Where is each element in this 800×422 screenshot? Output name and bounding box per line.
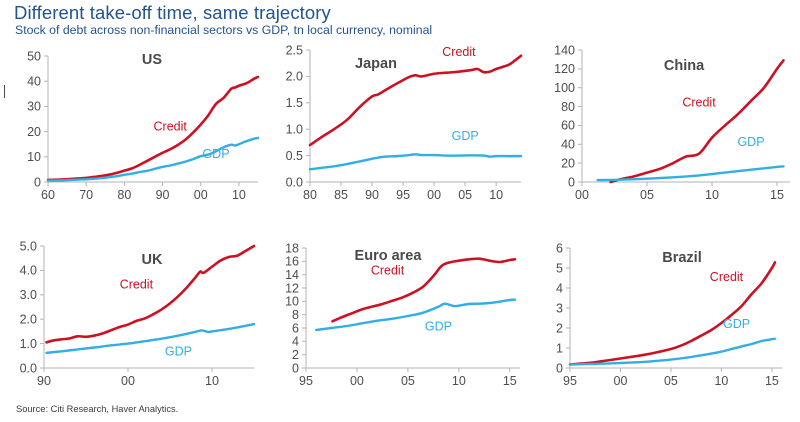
series-label-credit: Credit [371, 264, 405, 278]
xtick-label: 10 [205, 374, 219, 388]
ytick-label: 18 [285, 241, 299, 255]
ytick-label: 2.0 [20, 313, 37, 327]
xtick-label: 80 [117, 188, 131, 202]
series-line-gdp [47, 324, 254, 353]
ytick-label: 6 [556, 241, 563, 255]
series-label-credit: Credit [120, 278, 154, 292]
ytick-label: 40 [27, 75, 41, 89]
ytick-label: 5 [556, 261, 563, 275]
xtick-label: 00 [194, 188, 208, 202]
figure-title: Different take-off time, same trajectory [14, 2, 331, 24]
series-line-credit [310, 56, 521, 145]
xtick-label: 00 [575, 188, 589, 202]
series-label-gdp: GDP [425, 320, 452, 334]
series-label-gdp: GDP [165, 344, 192, 358]
xtick-label: 05 [458, 188, 472, 202]
series-label-credit: Credit [154, 119, 188, 133]
ytick-label: 30 [27, 100, 41, 114]
chart-brazil: 01234569500051015CreditGDPBrazil [532, 220, 798, 402]
series-label-credit: Credit [710, 270, 744, 284]
xtick-label: 95 [396, 188, 410, 202]
xtick-label: 60 [41, 188, 55, 202]
ytick-label: 16 [285, 255, 299, 269]
panel-uk: 0.01.02.03.04.05.0900010CreditGDPUK [0, 220, 266, 402]
ytick-label: 40 [561, 138, 575, 152]
figure-canvas: Different take-off time, same trajectory… [0, 0, 800, 422]
panel-brazil: 01234569500051015CreditGDPBrazil [532, 220, 798, 402]
ytick-label: 20 [27, 125, 41, 139]
ytick-label: 2 [556, 321, 563, 335]
ytick-label: 8 [292, 308, 299, 322]
xtick-label: 95 [299, 374, 313, 388]
xtick-label: 90 [156, 188, 170, 202]
xtick-label: 15 [765, 374, 779, 388]
panel-title: China [664, 58, 705, 74]
ytick-label: 10 [27, 150, 41, 164]
ytick-label: 0 [568, 175, 575, 189]
ytick-label: 100 [554, 81, 575, 95]
panel-japan: 0.00.51.01.52.02.580859095000510CreditGD… [266, 38, 532, 220]
ytick-label: 4 [292, 335, 299, 349]
chart-euro-area: 0246810121416189500051015CreditGDPEuro a… [266, 220, 532, 402]
xtick-label: 00 [427, 188, 441, 202]
ytick-label: 1.0 [20, 337, 37, 351]
ytick-label: 50 [27, 49, 41, 63]
xtick-label: 95 [563, 374, 577, 388]
xtick-label: 00 [350, 374, 364, 388]
panel-title: US [142, 52, 162, 68]
series-label-gdp: GDP [737, 135, 764, 149]
ytick-label: 1.5 [286, 96, 303, 110]
xtick-label: 05 [640, 188, 654, 202]
chart-china: 02040608010012014000051015CreditGDPChina [532, 38, 798, 220]
ytick-label: 1.0 [286, 123, 303, 137]
xtick-label: 05 [664, 374, 678, 388]
source-note: Source: Citi Research, Haver Analytics. [16, 404, 178, 414]
ytick-label: 4 [556, 281, 563, 295]
panel-euro-area: 0246810121416189500051015CreditGDPEuro a… [266, 220, 532, 402]
ytick-label: 20 [561, 156, 575, 170]
chart-uk: 0.01.02.03.04.05.0900010CreditGDPUK [0, 220, 266, 402]
ytick-label: 2.0 [286, 70, 303, 84]
series-label-gdp: GDP [723, 317, 750, 331]
xtick-label: 80 [303, 188, 317, 202]
ytick-label: 2 [292, 348, 299, 362]
xtick-label: 10 [714, 374, 728, 388]
ytick-label: 6 [292, 321, 299, 335]
ytick-label: 1 [556, 341, 563, 355]
series-line-credit [611, 60, 784, 182]
ytick-label: 5.0 [20, 239, 37, 253]
ytick-label: 14 [285, 268, 299, 282]
figure-subtitle: Stock of debt across non-financial secto… [15, 23, 432, 37]
ytick-label: 80 [561, 100, 575, 114]
xtick-label: 10 [705, 188, 719, 202]
series-line-credit [570, 262, 775, 364]
panel-title: Euro area [355, 248, 423, 264]
panel-title: Brazil [662, 250, 702, 266]
ytick-label: 0.5 [286, 149, 303, 163]
ytick-label: 120 [554, 62, 575, 76]
ytick-label: 0.0 [286, 175, 303, 189]
xtick-label: 10 [232, 188, 246, 202]
ytick-label: 0 [34, 175, 41, 189]
series-label-gdp: GDP [202, 147, 229, 161]
xtick-label: 15 [503, 374, 517, 388]
xtick-label: 10 [489, 188, 503, 202]
ytick-label: 4.0 [20, 264, 37, 278]
xtick-label: 00 [614, 374, 628, 388]
ytick-label: 60 [561, 119, 575, 133]
xtick-label: 15 [770, 188, 784, 202]
panel-title: Japan [355, 56, 397, 72]
chart-japan: 0.00.51.01.52.02.580859095000510CreditGD… [266, 38, 532, 220]
panel-us: 01020304050607080900010CreditGDPUS [0, 38, 266, 220]
series-line-gdp [310, 154, 521, 169]
xtick-label: 70 [79, 188, 93, 202]
ytick-label: 0 [556, 361, 563, 375]
panel-grid: 01020304050607080900010CreditGDPUS 0.00.… [0, 38, 800, 402]
xtick-label: 90 [365, 188, 379, 202]
panel-title: UK [142, 252, 163, 268]
ytick-label: 140 [554, 43, 575, 57]
xtick-label: 10 [452, 374, 466, 388]
ytick-label: 10 [285, 295, 299, 309]
ytick-label: 3.0 [20, 288, 37, 302]
xtick-label: 85 [334, 188, 348, 202]
xtick-label: 00 [121, 374, 135, 388]
ytick-label: 3 [556, 301, 563, 315]
series-label-credit: Credit [682, 96, 716, 110]
series-label-gdp: GDP [452, 129, 479, 143]
series-label-credit: Credit [442, 45, 476, 59]
chart-us: 01020304050607080900010CreditGDPUS [0, 38, 266, 220]
xtick-label: 05 [401, 374, 415, 388]
ytick-label: 2.5 [286, 43, 303, 57]
ytick-label: 12 [285, 281, 299, 295]
xtick-label: 90 [37, 374, 51, 388]
ytick-label: 0 [292, 361, 299, 375]
axes-japan: 0.00.51.01.52.02.580859095000510 [286, 43, 521, 202]
panel-china: 02040608010012014000051015CreditGDPChina [532, 38, 798, 220]
ytick-label: 0.0 [20, 361, 37, 375]
